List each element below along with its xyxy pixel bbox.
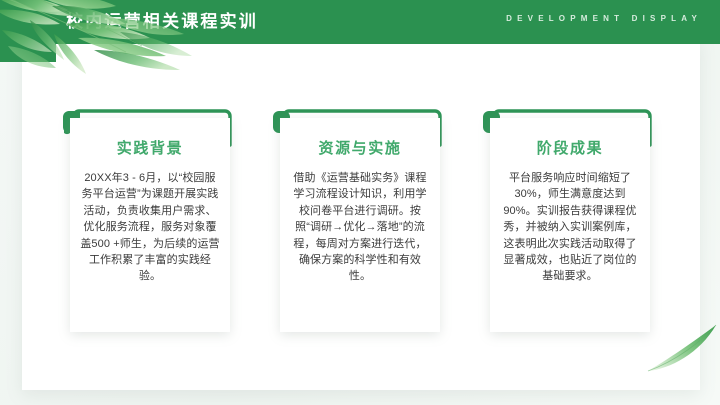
cards-container: 实践背景 20XX年3 - 6月，以“校园服务平台运营”为课题开展实践活动，负责… (0, 0, 720, 405)
content-card-2: 资源与实施 借助《运营基础实务》课程学习流程设计知识，利用学校问卷平台进行调研。… (280, 118, 440, 332)
content-card-1: 实践背景 20XX年3 - 6月，以“校园服务平台运营”为课题开展实践活动，负责… (70, 118, 230, 332)
card-title-1: 实践背景 (70, 139, 230, 159)
card-body-2: 借助《运营基础实务》课程学习流程设计知识，利用学校问卷平台进行调研。按照“调研→… (289, 170, 431, 285)
card-title-2: 资源与实施 (280, 139, 440, 159)
content-card-3: 阶段成果 平台服务响应时间缩短了30%，师生满意度达到90%。实训报告获得课程优… (490, 118, 650, 332)
slide: 校内运营相关课程实训 DEVELOPMENT DISPLAY (0, 0, 720, 405)
card-body-1: 20XX年3 - 6月，以“校园服务平台运营”为课题开展实践活动，负责收集用户需… (79, 170, 221, 285)
card-body-3: 平台服务响应时间缩短了30%，师生满意度达到90%。实训报告获得课程优秀，并被纳… (499, 170, 641, 285)
card-title-3: 阶段成果 (490, 139, 650, 159)
